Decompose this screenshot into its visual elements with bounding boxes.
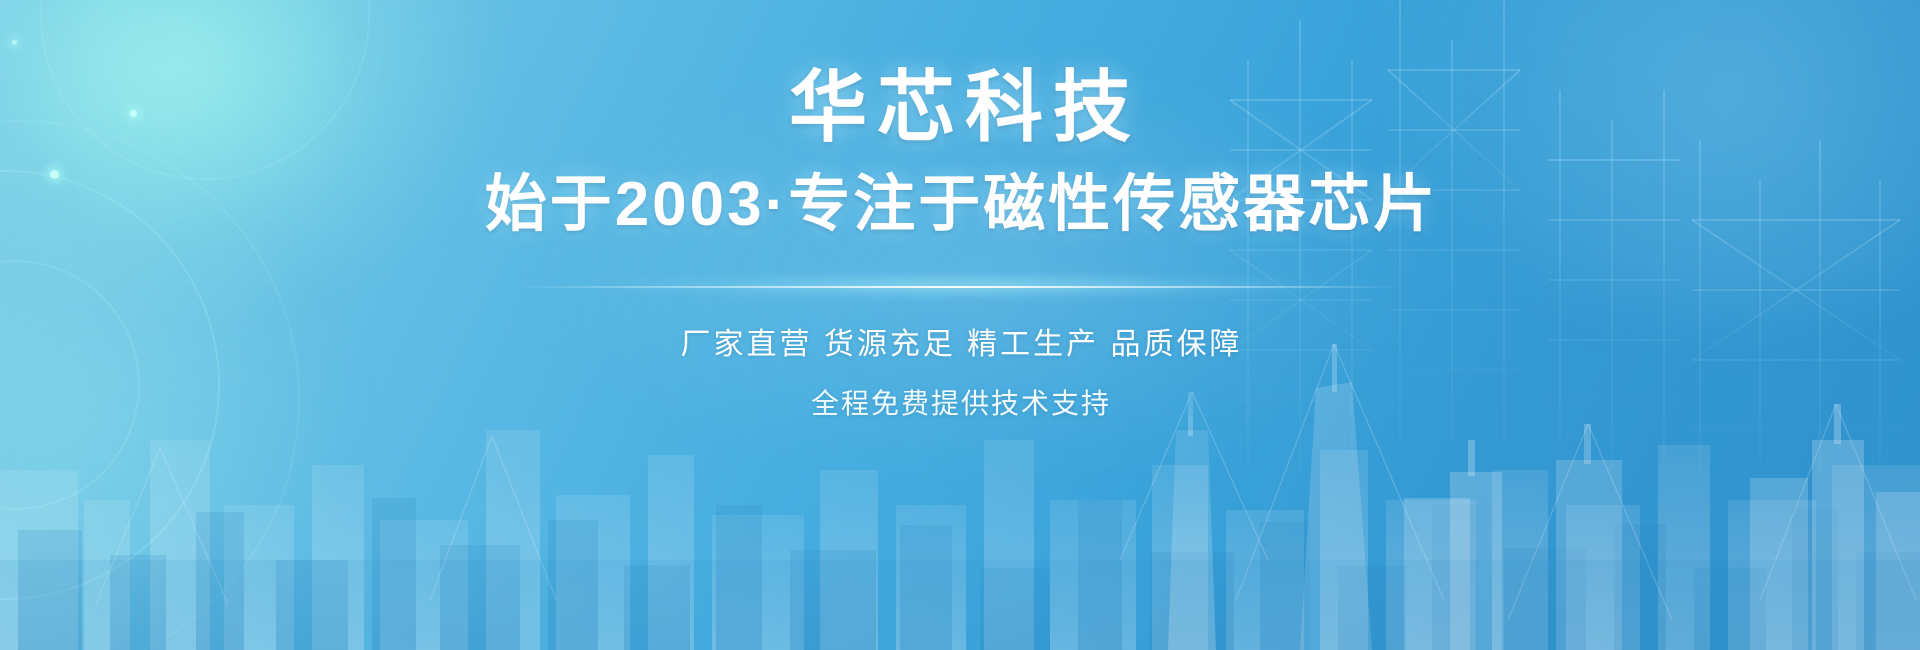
banner-tagline: 厂家直营 货源充足 精工生产 品质保障 bbox=[677, 330, 1242, 360]
banner-content: 华芯科技 始于2003·专注于磁性传感器芯片 厂家直营 货源充足 精工生产 品质… bbox=[0, 0, 1920, 650]
divider-line bbox=[520, 286, 1400, 288]
banner-support-note: 全程免费提供技术支持 bbox=[809, 390, 1111, 418]
banner-subtitle: 始于2003·专注于磁性传感器芯片 bbox=[482, 174, 1439, 236]
page-title: 华芯科技 bbox=[779, 68, 1141, 146]
glow-divider bbox=[520, 280, 1400, 294]
hero-banner: 华芯科技 始于2003·专注于磁性传感器芯片 厂家直营 货源充足 精工生产 品质… bbox=[0, 0, 1920, 650]
